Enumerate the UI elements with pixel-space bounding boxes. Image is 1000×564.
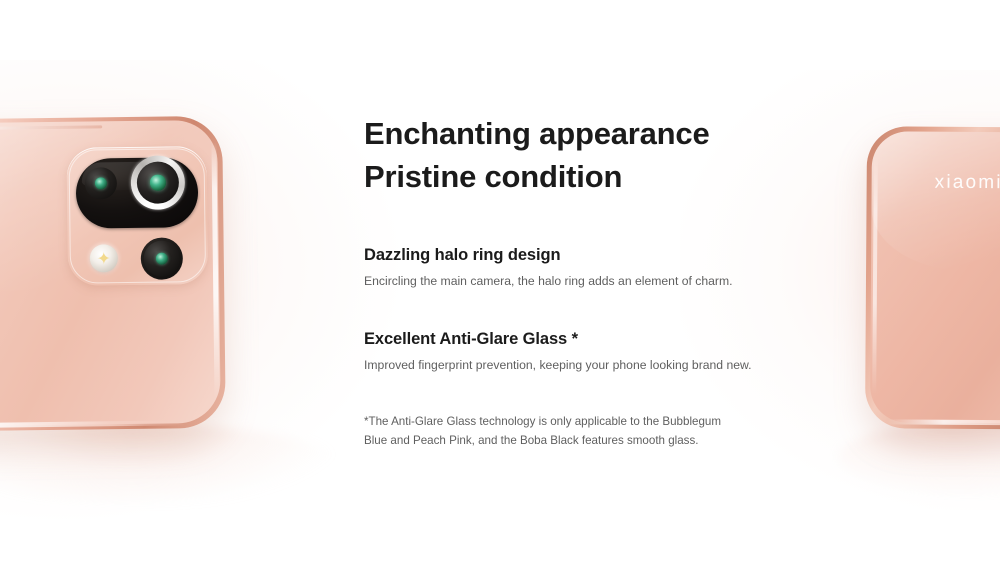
feature-description-anti-glare-glass: Improved fingerprint prevention, keeping… xyxy=(364,356,764,374)
xiaomi-brand-logo: xiaomi xyxy=(935,172,1000,194)
phone-left-reflection xyxy=(0,424,340,504)
page-title: Enchanting appearance Pristine condition xyxy=(364,112,764,199)
macro-lens-icon xyxy=(144,240,180,276)
camera-module: ✦ xyxy=(66,146,208,286)
feature-description-halo-ring: Encircling the main camera, the halo rin… xyxy=(364,272,764,290)
footnote-line-2: Blue and Peach Pink, and the Boba Black … xyxy=(364,434,699,447)
flash-starburst-icon: ✦ xyxy=(90,244,118,272)
product-feature-banner: ✦ xiaomi Enchanting appearance Pristine … xyxy=(0,0,1000,564)
phone-left-rear-view: ✦ xyxy=(0,116,226,432)
ultrawide-lens-icon xyxy=(85,167,117,199)
phone-right-reflection xyxy=(838,420,1000,496)
feature-title-halo-ring: Dazzling halo ring design xyxy=(364,246,764,265)
footnote-line-1: *The Anti-Glare Glass technology is only… xyxy=(364,415,721,428)
main-camera-halo-ring xyxy=(131,155,186,210)
feature-block-anti-glare-glass: Excellent Anti-Glare Glass * Improved fi… xyxy=(364,330,764,374)
feature-title-anti-glare-glass: Excellent Anti-Glare Glass * xyxy=(364,330,764,349)
headline-line-1: Enchanting appearance xyxy=(364,116,710,151)
led-flash-icon: ✦ xyxy=(90,244,118,272)
copy-column: Enchanting appearance Pristine condition… xyxy=(364,112,764,451)
phone-right-rear-view: xiaomi xyxy=(865,126,1000,430)
feature-block-halo-ring: Dazzling halo ring design Encircling the… xyxy=(364,246,764,290)
headline-line-2: Pristine condition xyxy=(364,159,622,194)
footnote: *The Anti-Glare Glass technology is only… xyxy=(364,413,736,451)
